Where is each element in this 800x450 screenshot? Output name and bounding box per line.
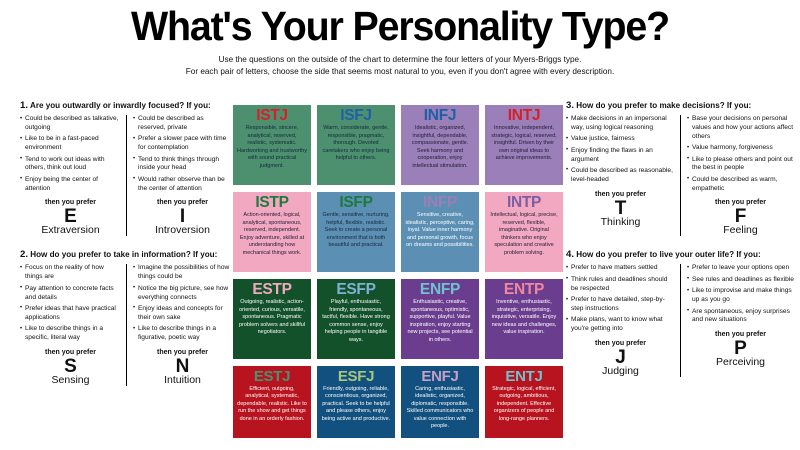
question-4-option-P[interactable]: Prefer to leave your options open See ru… [680, 264, 794, 377]
type-code: ESFJ [321, 369, 391, 385]
preference-name-intuition: Intuition [133, 375, 232, 386]
list-item: Would rather observe than be the center … [133, 176, 232, 194]
question-1-option-E[interactable]: Could be described as talkative, outgoin… [20, 115, 126, 236]
type-card-ENTP[interactable]: ENTP Inventive, enthusiastic, strategic,… [485, 279, 563, 359]
type-description: Enthusiastic, creative, spontaneous, opt… [405, 299, 475, 344]
then-you-prefer-label: then you prefer [133, 349, 232, 356]
then-you-prefer-label: then you prefer [20, 349, 121, 356]
list-item: Base your decisions on personal values a… [687, 115, 794, 141]
preference-name-thinking: Thinking [566, 217, 675, 228]
body-area: 1. Are you outwardly or inwardly focused… [0, 100, 800, 450]
question-1-number: 1. [20, 100, 28, 111]
question-3-option-F[interactable]: Base your decisions on personal values a… [680, 115, 794, 236]
question-1-E-bullets: Could be described as talkative, outgoin… [20, 115, 121, 193]
question-3-heading: 3. How do you prefer to make decisions? … [566, 100, 794, 111]
type-code: ESTJ [237, 369, 307, 385]
type-code: ISTP [237, 195, 307, 211]
question-block-3: 3. How do you prefer to make decisions? … [566, 100, 794, 236]
list-item: Like to describe things in a specific, l… [20, 325, 121, 343]
type-card-INTJ[interactable]: INTJ Innovative, independent, strategic,… [485, 105, 563, 185]
subtitle-line-1: Use the questions on the outside of the … [0, 54, 800, 66]
type-description: Idealistic, organized, insightful, depen… [405, 125, 475, 170]
question-block-4: 4. How do you prefer to live your outer … [566, 249, 794, 377]
question-2-number: 2. [20, 249, 28, 260]
list-item: Prefer ideas that have practical applica… [20, 305, 121, 323]
list-item: Notice the big picture, see how everythi… [133, 285, 232, 303]
list-item: Value harmony, forgiveness [687, 144, 794, 153]
list-item: Are spontaneous, enjoy surprises and new… [687, 308, 794, 326]
type-description: Gentle, sensitive, nurturing, helpful, f… [321, 212, 391, 250]
type-card-ESTP[interactable]: ESTP Outgoing, realistic, action-oriente… [233, 279, 311, 359]
type-description: Caring, enthusiastic, idealistic, organi… [405, 386, 475, 431]
type-code: INTJ [489, 108, 559, 124]
list-item: Could be described as talkative, outgoin… [20, 115, 121, 133]
question-2-heading: 2. How do you prefer to take in informat… [20, 249, 232, 260]
list-item: Could be described as warm, empathetic [687, 176, 794, 194]
list-item: Like to improvise and make things up as … [687, 287, 794, 305]
question-2-N-bullets: Imagine the possibilities of how things … [133, 264, 232, 342]
type-card-ESTJ[interactable]: ESTJ Efficient, outgoing, analytical, sy… [233, 366, 311, 438]
type-description: Responsible, sincere, analytical, reserv… [237, 125, 307, 170]
type-description: Playful, enthusiastic, friendly, spontan… [321, 299, 391, 344]
question-1-option-I[interactable]: Could be described as reserved, private … [126, 115, 232, 236]
list-item: Enjoy ideas and concepts for their own s… [133, 305, 232, 323]
question-2-prompt: How do you prefer to take in information… [30, 250, 217, 259]
infographic-page: What's Your Personality Type? Use the qu… [0, 0, 800, 450]
preference-name-perceiving: Perceiving [687, 357, 794, 368]
type-code: INFJ [405, 108, 475, 124]
type-code: ENTP [489, 282, 559, 298]
type-card-ESFJ[interactable]: ESFJ Friendly, outgoing, reliable, consc… [317, 366, 395, 438]
then-you-prefer-label: then you prefer [566, 191, 675, 198]
preference-name-feeling: Feeling [687, 225, 794, 236]
list-item: Make decisions in an impersonal way, usi… [566, 115, 675, 133]
questions-right-column: 3. How do you prefer to make decisions? … [566, 100, 794, 377]
type-description: Innovative, independent, strategic, logi… [489, 125, 559, 163]
type-card-ISTP[interactable]: ISTP Action-oriented, logical, analytica… [233, 192, 311, 272]
list-item: Prefer to have matters settled [566, 264, 675, 273]
question-4-number: 4. [566, 249, 574, 260]
list-item: See rules and deadlines as flexible [687, 276, 794, 285]
question-1-prompt: Are you outwardly or inwardly focused? I… [30, 101, 211, 110]
page-subtitle: Use the questions on the outside of the … [0, 54, 800, 78]
question-2-option-N[interactable]: Imagine the possibilities of how things … [126, 264, 232, 385]
type-description: Outgoing, realistic, action-oriented, cu… [237, 299, 307, 337]
type-code: ESTP [237, 282, 307, 298]
list-item: Like to describe things in a figurative,… [133, 325, 232, 343]
list-item: Prefer a slower pace with time for conte… [133, 135, 232, 153]
preference-name-introversion: Introversion [133, 225, 232, 236]
question-3-number: 3. [566, 100, 574, 111]
list-item: Make plans, want to know what you're get… [566, 316, 675, 334]
type-code: ISFP [321, 195, 391, 211]
questions-left-column: 1. Are you outwardly or inwardly focused… [20, 100, 232, 386]
list-item: Focus on the reality of how things are [20, 264, 121, 282]
preference-name-extraversion: Extraversion [20, 225, 121, 236]
type-card-INFP[interactable]: INFP Sensitive, creative, idealistic, pe… [401, 192, 479, 272]
type-code: ENTJ [489, 369, 559, 385]
question-2-S-bullets: Focus on the reality of how things are P… [20, 264, 121, 342]
question-1-I-bullets: Could be described as reserved, private … [133, 115, 232, 193]
list-item: Enjoy being the center of attention [20, 176, 121, 194]
list-item: Imagine the possibilities of how things … [133, 264, 232, 282]
question-4-J-bullets: Prefer to have matters settled Think rul… [566, 264, 675, 334]
type-description: Inventive, enthusiastic, strategic, ente… [489, 299, 559, 337]
preference-letter-T: T [566, 199, 675, 218]
type-card-ISFP[interactable]: ISFP Gentle, sensitive, nurturing, helpf… [317, 192, 395, 272]
question-3-F-bullets: Base your decisions on personal values a… [687, 115, 794, 193]
type-card-ISTJ[interactable]: ISTJ Responsible, sincere, analytical, r… [233, 105, 311, 185]
type-card-ENFP[interactable]: ENFP Enthusiastic, creative, spontaneous… [401, 279, 479, 359]
question-2-option-S[interactable]: Focus on the reality of how things are P… [20, 264, 126, 385]
list-item: Tend to work out ideas with others, thin… [20, 156, 121, 174]
page-title: What's Your Personality Type? [16, 0, 784, 47]
then-you-prefer-label: then you prefer [133, 199, 232, 206]
subtitle-line-2: For each pair of letters, choose the sid… [0, 66, 800, 78]
preference-name-judging: Judging [566, 366, 675, 377]
type-card-ENTJ[interactable]: ENTJ Strategic, logical, efficient, outg… [485, 366, 563, 438]
question-4-P-bullets: Prefer to leave your options open See ru… [687, 264, 794, 325]
question-4-option-J[interactable]: Prefer to have matters settled Think rul… [566, 264, 680, 377]
list-item: Pay attention to concrete facts and deta… [20, 285, 121, 303]
list-item: Could be described as reasonable, level-… [566, 167, 675, 185]
type-description: Sensitive, creative, idealistic, percept… [405, 212, 475, 250]
list-item: Think rules and deadlines should be resp… [566, 276, 675, 294]
list-item: Like to be in a fast-paced environment [20, 135, 121, 153]
type-code: ISFJ [321, 108, 391, 124]
type-description: Strategic, logical, efficient, outgoing,… [489, 386, 559, 424]
question-4-heading: 4. How do you prefer to live your outer … [566, 249, 794, 260]
preference-name-sensing: Sensing [20, 375, 121, 386]
type-description: Efficient, outgoing, analytical, systema… [237, 386, 307, 424]
then-you-prefer-label: then you prefer [566, 340, 675, 347]
question-1-heading: 1. Are you outwardly or inwardly focused… [20, 100, 232, 111]
type-code: ENFP [405, 282, 475, 298]
list-item: Prefer to have detailed, step-by-step in… [566, 296, 675, 314]
list-item: Prefer to leave your options open [687, 264, 794, 273]
type-card-INTP[interactable]: INTP Intellectual, logical, precise, res… [485, 192, 563, 272]
list-item: Enjoy finding the flaws in an argument [566, 147, 675, 165]
type-description: Action-oriented, logical, analytical, sp… [237, 212, 307, 257]
type-code: ISTJ [237, 108, 307, 124]
question-block-1: 1. Are you outwardly or inwardly focused… [20, 100, 232, 236]
question-block-2: 2. How do you prefer to take in informat… [20, 249, 232, 385]
personality-type-grid: ISTJ Responsible, sincere, analytical, r… [233, 105, 565, 438]
type-card-ISFJ[interactable]: ISFJ Warm, considerate, gentle, responsi… [317, 105, 395, 185]
type-card-ENFJ[interactable]: ENFJ Caring, enthusiastic, idealistic, o… [401, 366, 479, 438]
question-4-prompt: How do you prefer to live your outer lif… [576, 250, 760, 259]
type-code: ESFP [321, 282, 391, 298]
type-code: INTP [489, 195, 559, 211]
type-description: Friendly, outgoing, reliable, conscienti… [321, 386, 391, 424]
question-3-prompt: How do you prefer to make decisions? If … [576, 101, 751, 110]
type-card-INFJ[interactable]: INFJ Idealistic, organized, insightful, … [401, 105, 479, 185]
then-you-prefer-label: then you prefer [687, 331, 794, 338]
type-description: Intellectual, logical, precise, reserved… [489, 212, 559, 257]
then-you-prefer-label: then you prefer [687, 199, 794, 206]
list-item: Value justice, fairness [566, 135, 675, 144]
list-item: Tend to think things through inside your… [133, 156, 232, 174]
type-card-ESFP[interactable]: ESFP Playful, enthusiastic, friendly, sp… [317, 279, 395, 359]
list-item: Like to please others and point out the … [687, 156, 794, 174]
type-code: ENFJ [405, 369, 475, 385]
question-3-T-bullets: Make decisions in an impersonal way, usi… [566, 115, 675, 185]
then-you-prefer-label: then you prefer [20, 199, 121, 206]
type-code: INFP [405, 195, 475, 211]
list-item: Could be described as reserved, private [133, 115, 232, 133]
type-description: Warm, considerate, gentle, responsible, … [321, 125, 391, 163]
personality-type-grid-wrapper: ISTJ Responsible, sincere, analytical, r… [233, 105, 565, 438]
question-3-option-T[interactable]: Make decisions in an impersonal way, usi… [566, 115, 680, 236]
